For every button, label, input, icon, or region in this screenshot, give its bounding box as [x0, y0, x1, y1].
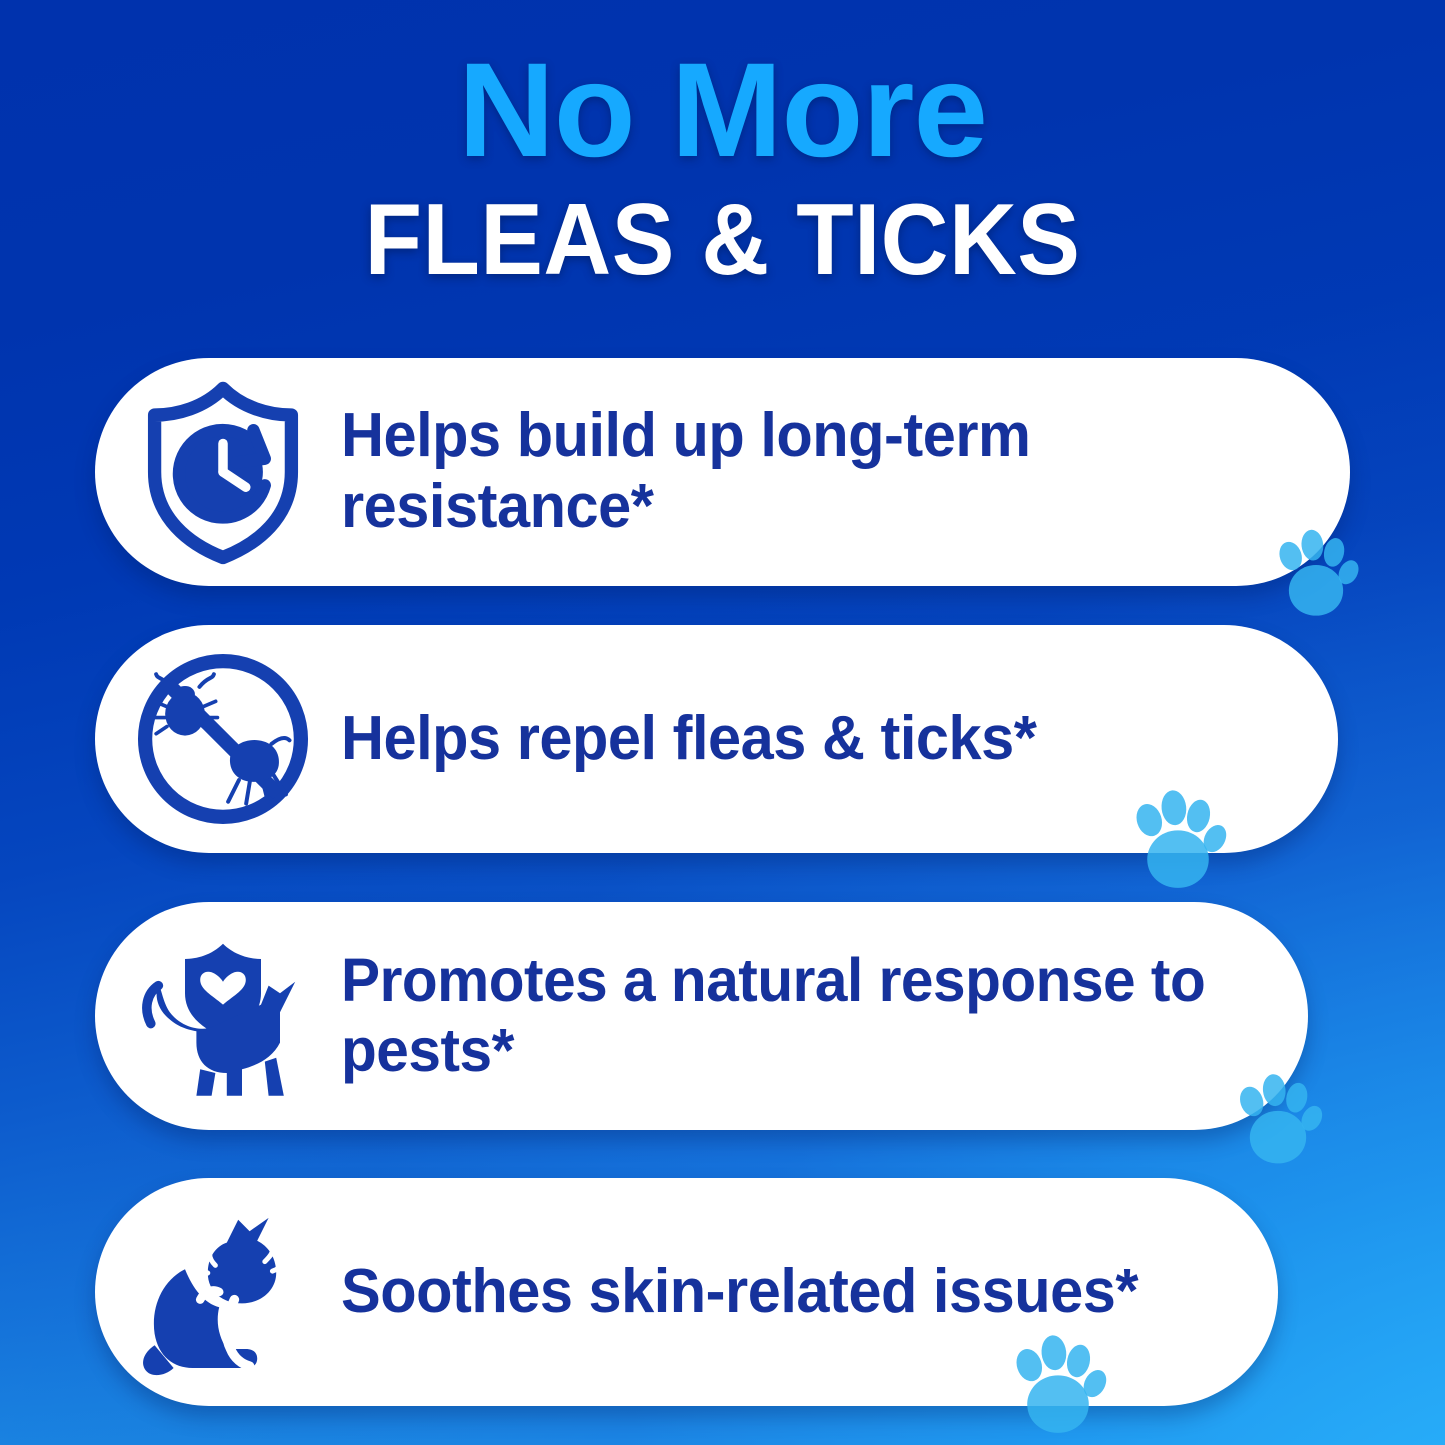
headline-primary: No More — [0, 44, 1445, 178]
shield-clock-icon — [123, 372, 323, 572]
benefit-card-long-term-resistance: Helps build up long-term resistance* — [95, 358, 1350, 586]
benefit-text: Helps repel fleas & ticks* — [341, 704, 1298, 775]
paw-print-icon — [1006, 1322, 1110, 1440]
promo-poster: No More FLEAS & TICKS Helps build up lon… — [0, 0, 1445, 1445]
benefit-card-natural-response: Promotes a natural response to pests* — [95, 902, 1308, 1130]
benefit-text: Helps build up long-term resistance* — [341, 401, 1310, 542]
benefit-text: Promotes a natural response to pests* — [341, 946, 1269, 1085]
no-pests-icon — [123, 639, 323, 839]
benefit-card-soothes-skin: Soothes skin-related issues* — [95, 1178, 1278, 1406]
cat-scratching-icon — [123, 1192, 323, 1392]
headline-secondary: FLEAS & TICKS — [51, 190, 1395, 291]
cat-shield-heart-icon — [123, 916, 323, 1116]
headline: No More FLEAS & TICKS — [0, 44, 1445, 291]
benefit-card-repel-fleas-ticks: Helps repel fleas & ticks* — [95, 625, 1338, 853]
paw-print-icon — [1126, 777, 1230, 895]
benefit-text: Soothes skin-related issues* — [341, 1257, 1241, 1328]
